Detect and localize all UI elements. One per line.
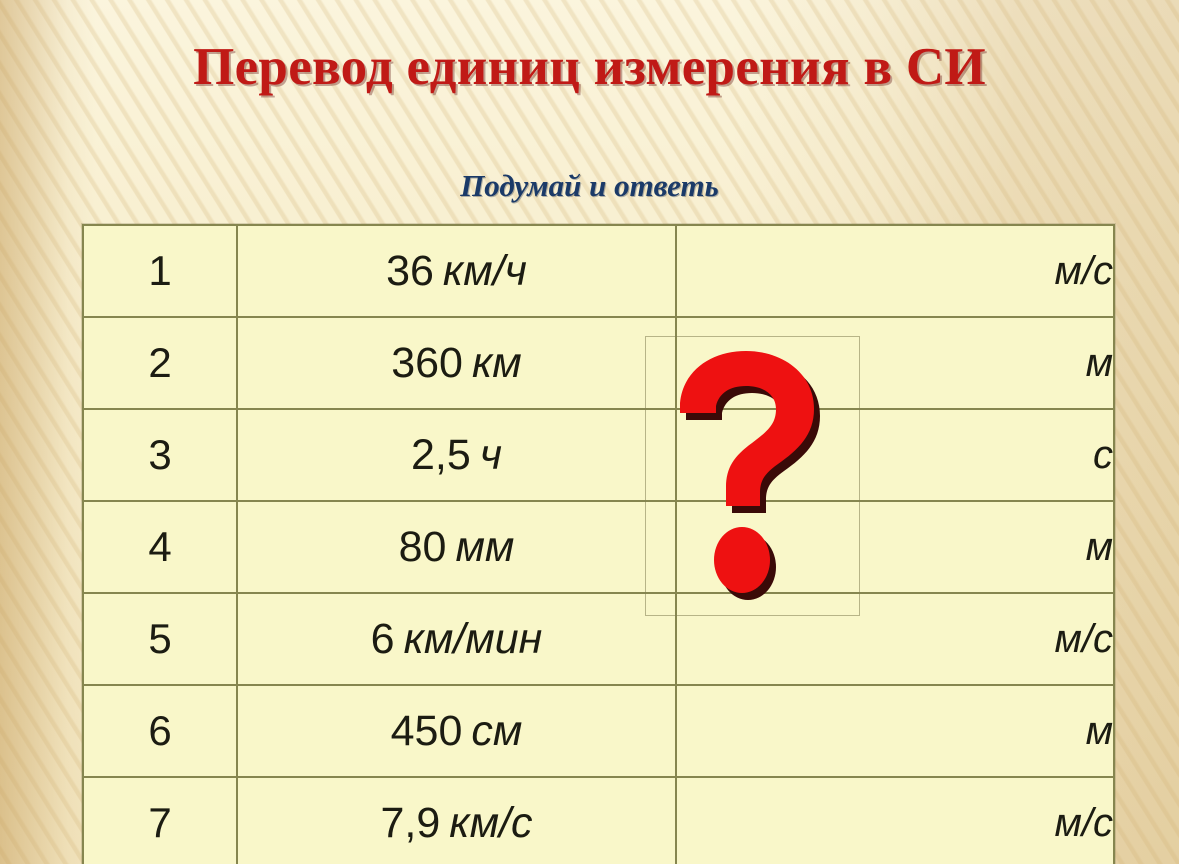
row-value-cell: 450см (237, 685, 676, 777)
row-index-cell: 4 (83, 501, 237, 593)
unit-conversion-table: 1 36км/ч м/с 2 360км м 3 2,5ч с 4 80мм (82, 224, 1115, 864)
value-unit: км/с (449, 799, 532, 847)
value-number: 7,9 (380, 799, 440, 847)
table-row: 4 80мм м (83, 501, 1114, 593)
table-row: 7 7,9км/с м/с (83, 777, 1114, 864)
row-value-cell: 36км/ч (237, 225, 676, 317)
value-unit: см (471, 707, 522, 755)
value-unit: ч (480, 431, 502, 479)
row-value-cell: 360км (237, 317, 676, 409)
question-mark-icon (678, 351, 828, 601)
row-target-unit-cell: м/с (676, 777, 1114, 864)
value-number: 6 (371, 615, 395, 663)
table-row: 6 450см м (83, 685, 1114, 777)
row-index-cell: 2 (83, 317, 237, 409)
value-unit: км/ч (443, 247, 527, 295)
row-index-cell: 3 (83, 409, 237, 501)
table-body: 1 36км/ч м/с 2 360км м 3 2,5ч с 4 80мм (83, 225, 1114, 864)
table-row: 5 6км/мин м/с (83, 593, 1114, 685)
page-title: Перевод единиц измерения в СИ (0, 40, 1179, 96)
value-number: 2,5 (411, 431, 471, 479)
table-row: 3 2,5ч с (83, 409, 1114, 501)
row-index-cell: 6 (83, 685, 237, 777)
value-unit: км (472, 339, 522, 387)
table-row: 1 36км/ч м/с (83, 225, 1114, 317)
value-number: 360 (391, 339, 463, 387)
value-unit: мм (455, 523, 514, 571)
row-target-unit-cell: м (676, 685, 1114, 777)
slide-canvas: Перевод единиц измерения в СИ Подумай и … (0, 0, 1179, 864)
row-index-cell: 7 (83, 777, 237, 864)
value-number: 36 (386, 247, 434, 295)
row-index-cell: 1 (83, 225, 237, 317)
row-target-unit-cell: м/с (676, 225, 1114, 317)
value-number: 80 (399, 523, 447, 571)
table-row: 2 360км м (83, 317, 1114, 409)
question-mark-placeholder-box (645, 336, 860, 616)
row-value-cell: 80мм (237, 501, 676, 593)
row-value-cell: 7,9км/с (237, 777, 676, 864)
value-number: 450 (391, 707, 463, 755)
value-unit: км/мин (404, 615, 543, 663)
row-value-cell: 2,5ч (237, 409, 676, 501)
row-value-cell: 6км/мин (237, 593, 676, 685)
row-index-cell: 5 (83, 593, 237, 685)
page-subtitle: Подумай и ответь (0, 168, 1179, 204)
